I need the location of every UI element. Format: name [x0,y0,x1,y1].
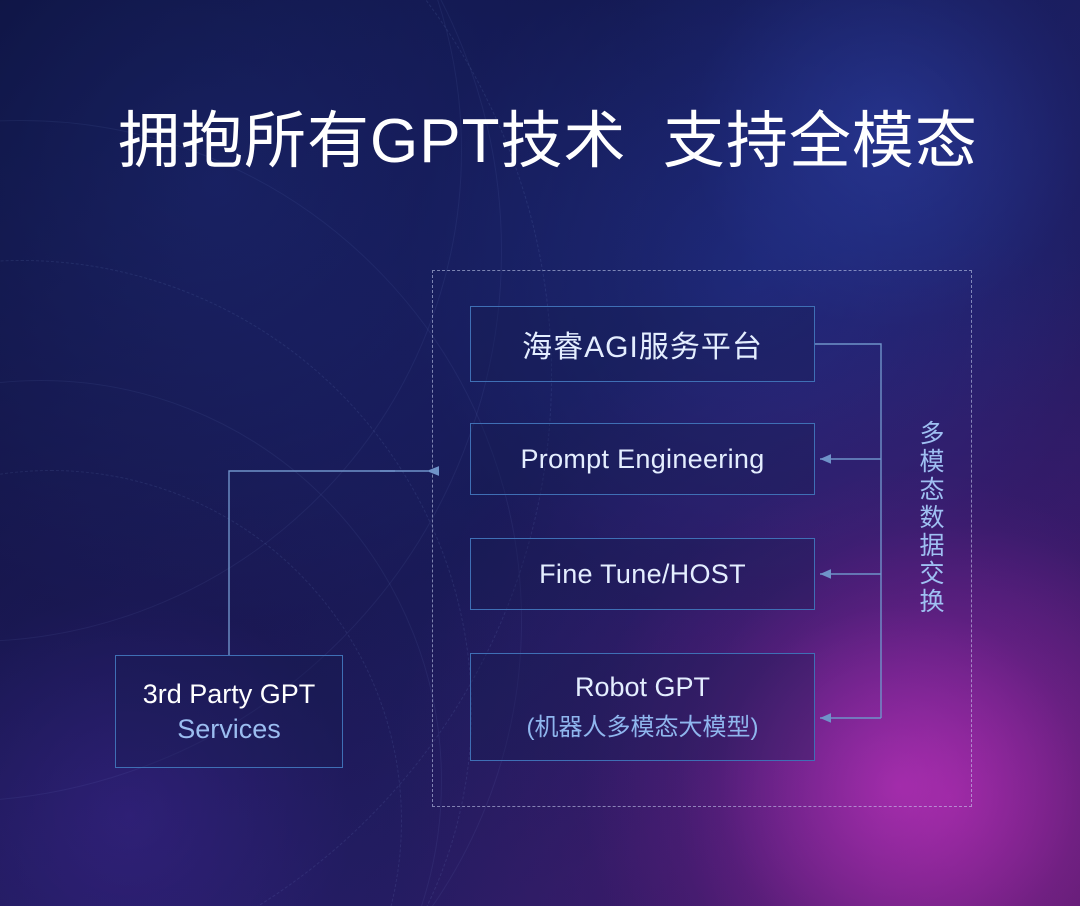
box-prompt-engineering[interactable]: Prompt Engineering [470,423,815,495]
slide-canvas: 拥抱所有GPT技术 支持全模态 海睿AGI服务平台 Prompt Enginee… [0,0,1080,906]
multimodal-data-exchange-label: 多 模 态 数 据 交 换 [914,420,950,616]
side-label-char-2: 态 [914,476,950,504]
box-robot-gpt-label: Robot GPT [575,672,710,703]
decorative-arc-5 [0,260,472,906]
box-fine-tune-host-label: Fine Tune/HOST [539,559,746,590]
side-label-char-6: 换 [914,588,950,616]
side-label-char-4: 据 [914,532,950,560]
box-agi-platform[interactable]: 海睿AGI服务平台 [470,306,815,382]
box-third-party-gpt-label: 3rd Party GPT [143,679,316,710]
side-label-char-1: 模 [914,448,950,476]
box-agi-platform-label: 海睿AGI服务平台 [522,322,763,366]
decorative-arc-1 [0,0,462,642]
side-label-char-3: 数 [914,504,950,532]
decorative-arc-6 [0,380,442,906]
page-title: 拥抱所有GPT技术 支持全模态 [118,108,978,176]
box-robot-gpt-sublabel: (机器人多模态大模型) [527,707,759,742]
box-robot-gpt[interactable]: Robot GPT (机器人多模态大模型) [470,653,815,761]
side-label-char-5: 交 [914,560,950,588]
side-label-char-0: 多 [914,420,950,448]
box-third-party-gpt[interactable]: 3rd Party GPT Services [115,655,343,768]
box-third-party-gpt-sublabel: Services [177,714,281,745]
box-prompt-engineering-label: Prompt Engineering [520,444,764,475]
box-fine-tune-host[interactable]: Fine Tune/HOST [470,538,815,610]
decorative-arc-4 [0,120,522,906]
